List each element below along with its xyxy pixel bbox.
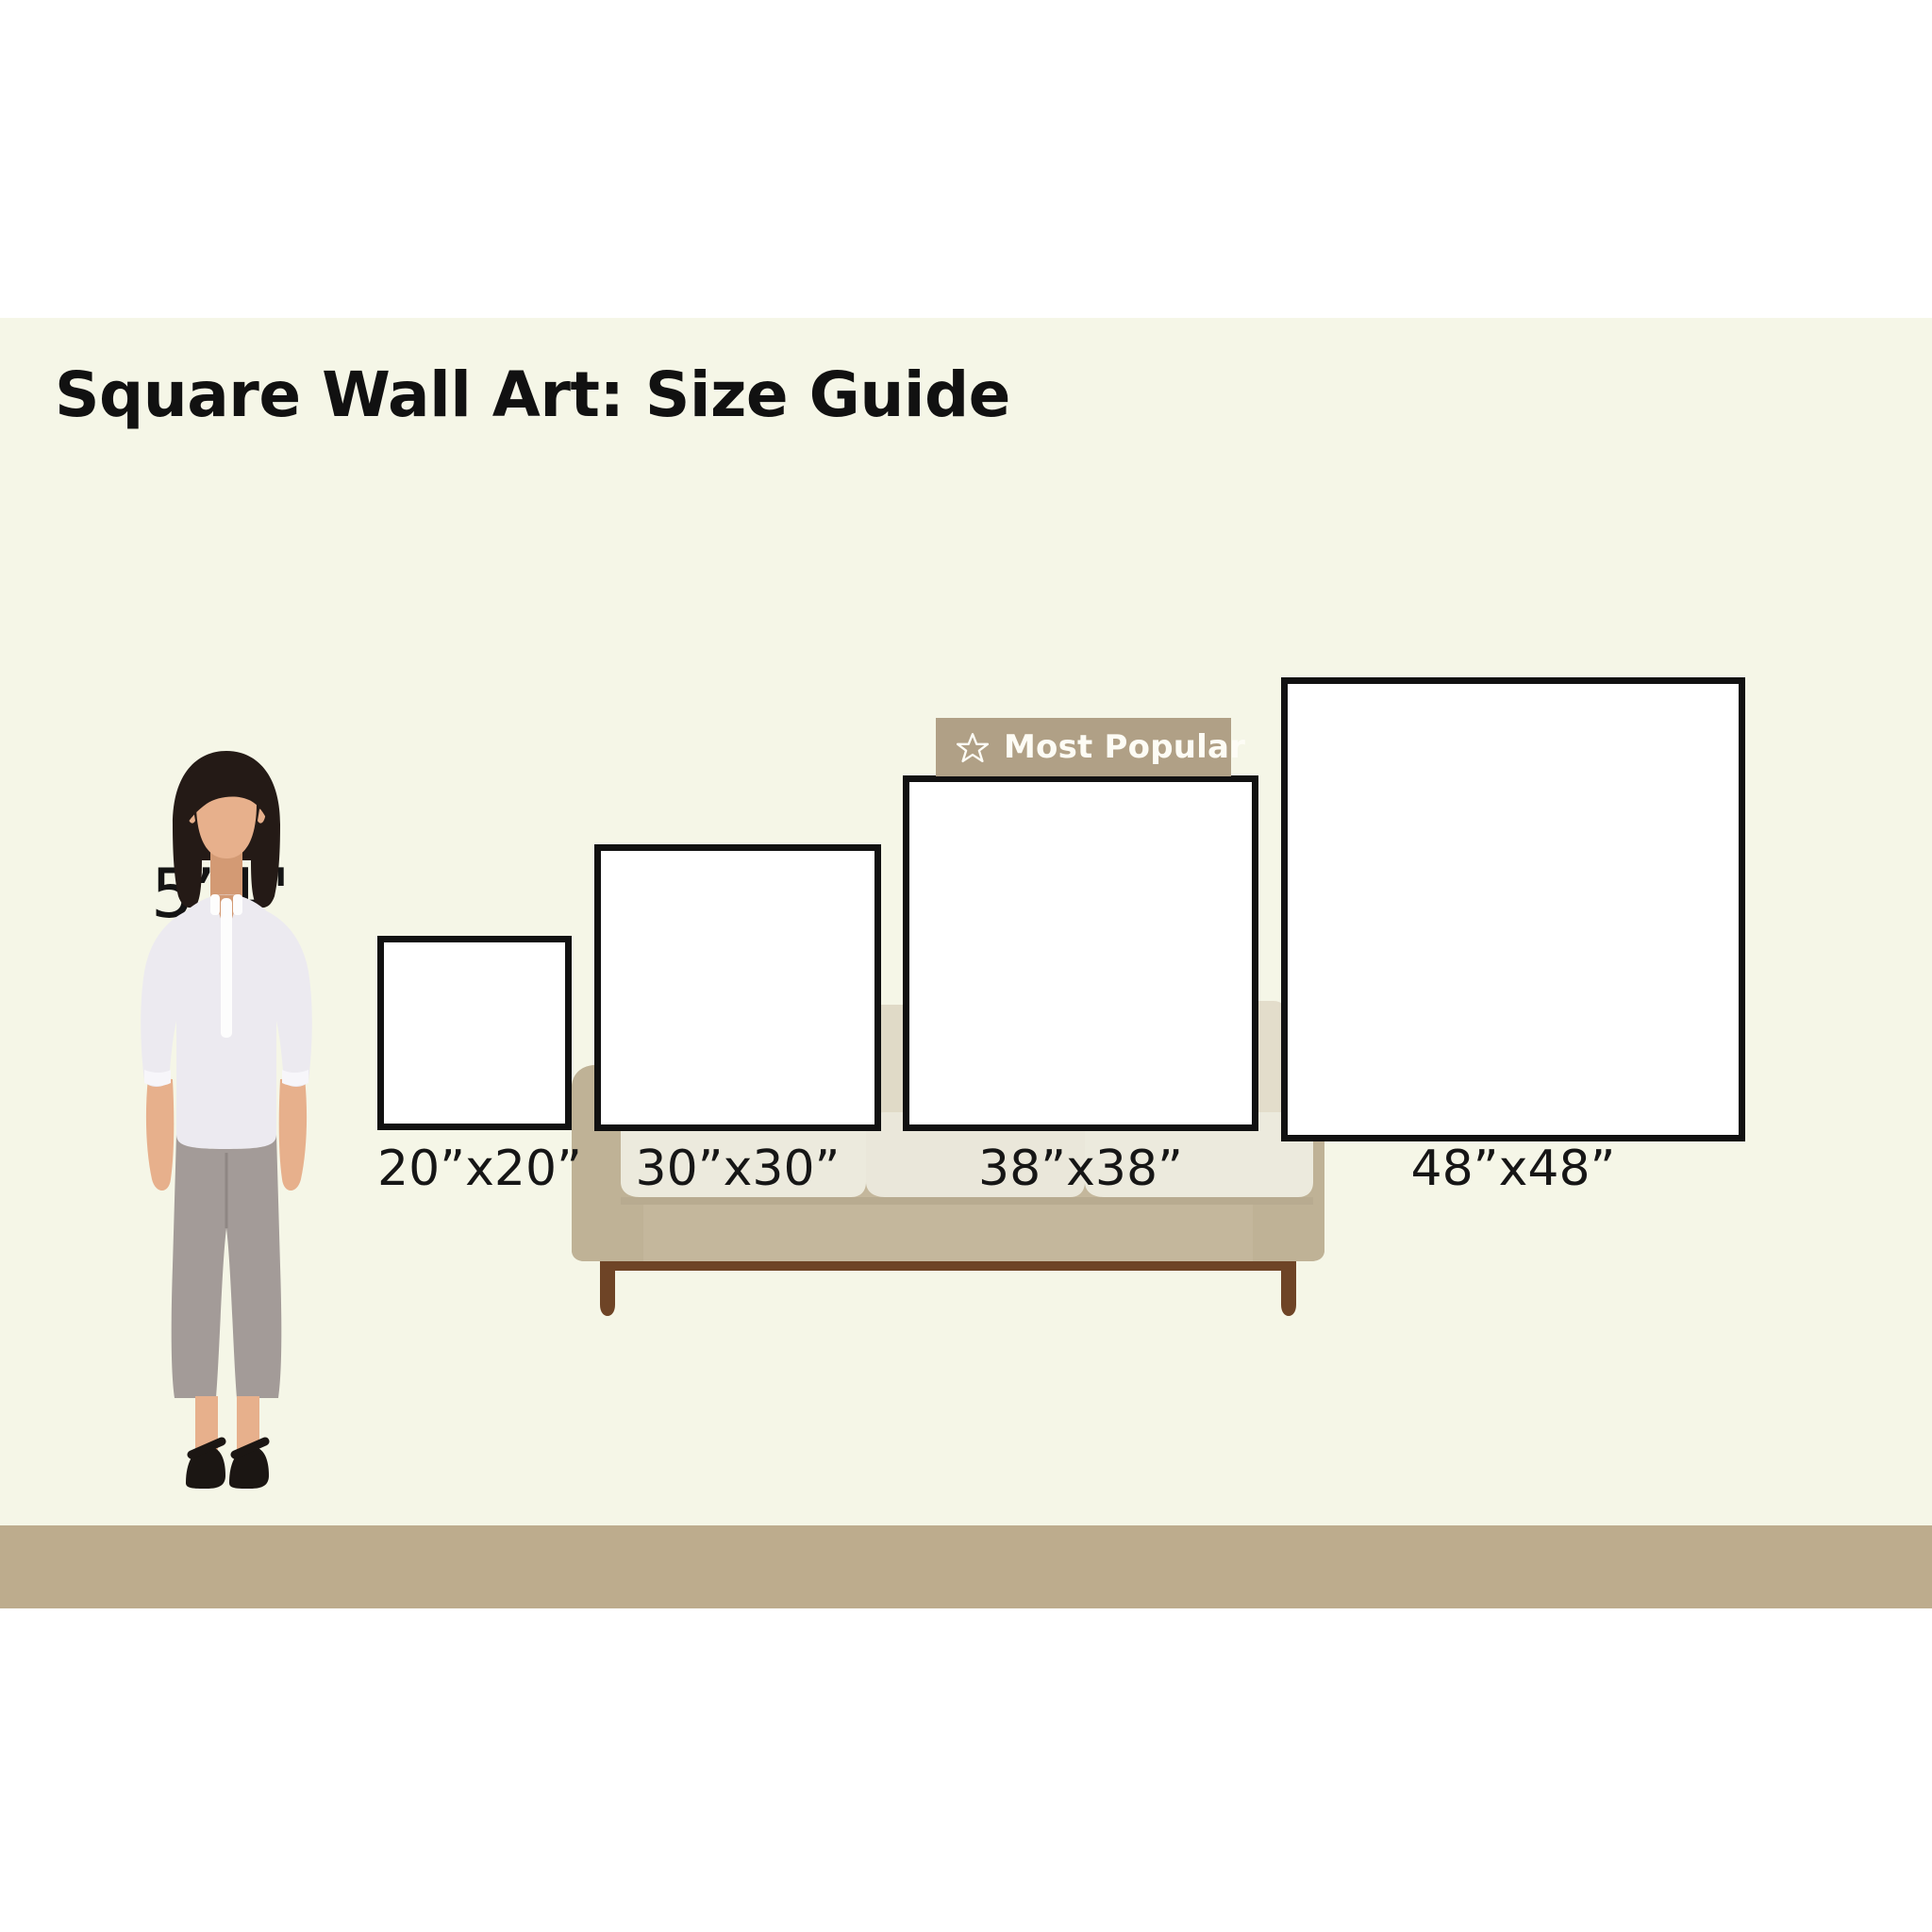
size-guide-infographic: Square Wall Art: Size Guide 5’4" — [0, 0, 1932, 1932]
size-label-20x20: 20”x20” — [377, 1141, 572, 1197]
frame-preview-20x20[interactable] — [377, 936, 572, 1130]
page-title: Square Wall Art: Size Guide — [55, 358, 1010, 431]
floor-band — [0, 1525, 1932, 1608]
most-popular-badge: Most Popular — [936, 718, 1231, 776]
size-label-30x30: 30”x30” — [594, 1141, 881, 1197]
frame-preview-38x38[interactable] — [903, 775, 1258, 1131]
star-icon — [957, 731, 989, 763]
room-scene: Square Wall Art: Size Guide 5’4" — [0, 318, 1932, 1608]
most-popular-badge-label: Most Popular — [1004, 728, 1245, 766]
frame-preview-48x48[interactable] — [1281, 677, 1745, 1141]
frame-preview-30x30[interactable] — [594, 844, 881, 1131]
size-label-38x38: 38”x38” — [903, 1141, 1258, 1197]
woman-figure — [127, 738, 325, 1525]
size-label-48x48: 48”x48” — [1281, 1141, 1745, 1197]
